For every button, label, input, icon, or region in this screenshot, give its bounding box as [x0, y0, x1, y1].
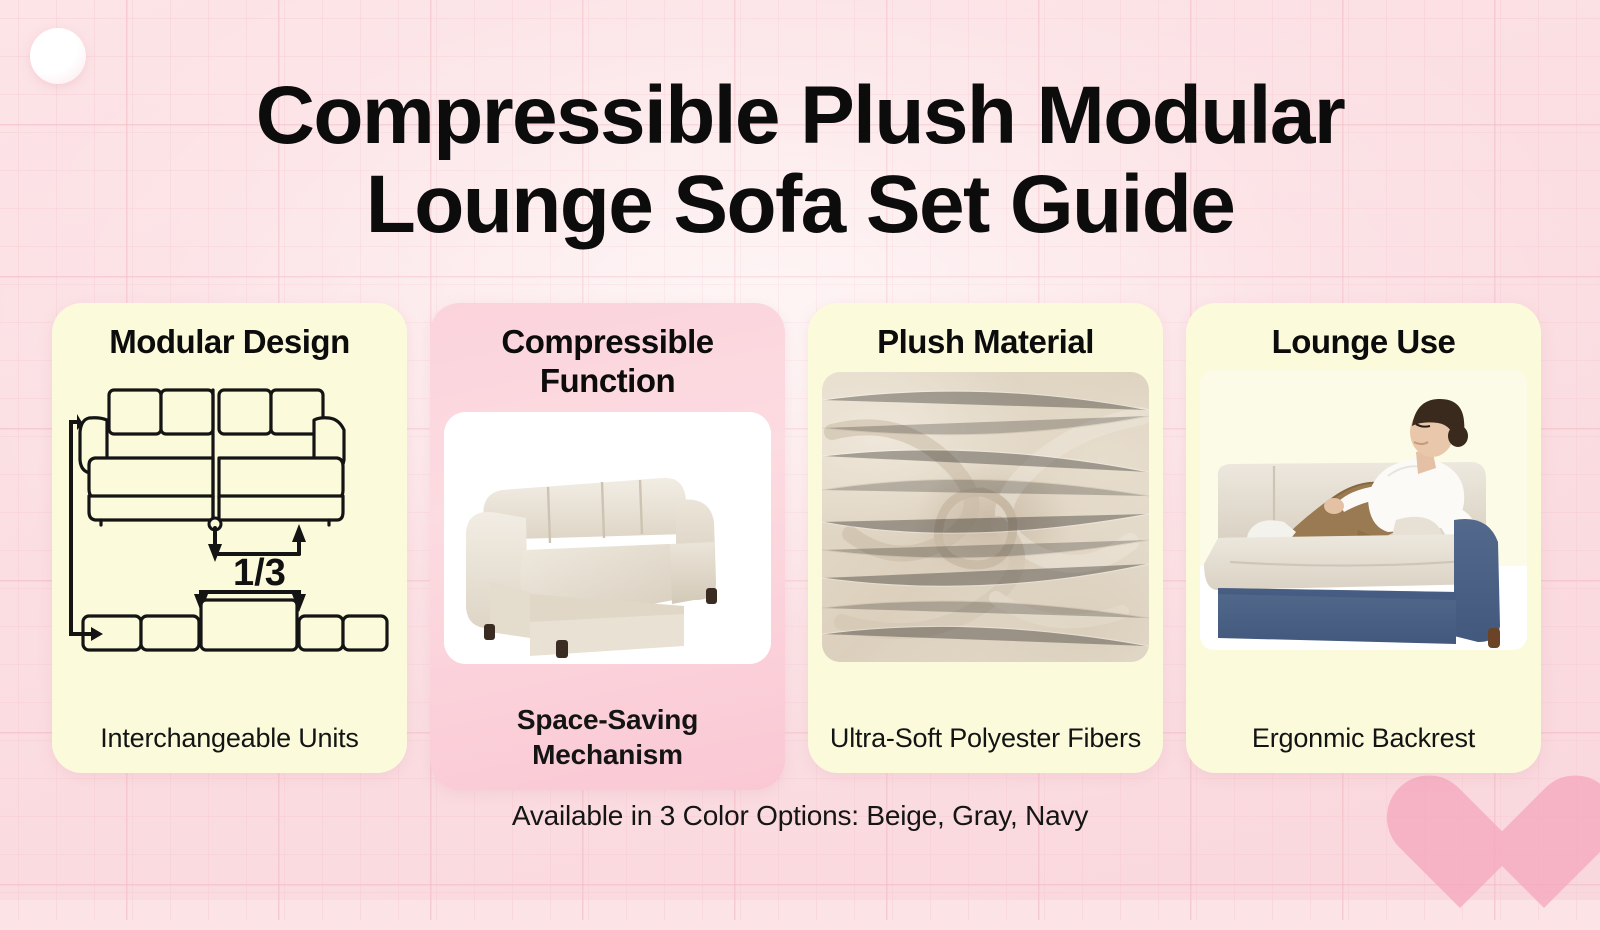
card-title: Lounge Use: [1272, 323, 1456, 362]
card-title: Compressible Function: [440, 323, 775, 400]
fabric-texture: [822, 372, 1149, 662]
card-title: Plush Material: [877, 323, 1094, 362]
card-caption: Ergonmic Backrest: [1186, 722, 1541, 755]
feature-card-lounge-use[interactable]: Lounge Use: [1186, 303, 1541, 773]
feature-card-plush-material[interactable]: Plush Material: [808, 303, 1163, 773]
svg-text:1/3: 1/3: [233, 552, 286, 594]
feature-card-compressible-function[interactable]: Compressible Function: [430, 303, 785, 790]
footer-note: Available in 3 Color Options: Beige, Gra…: [0, 800, 1600, 832]
card-title: Modular Design: [109, 323, 350, 362]
page-title-line-2: Lounge Sofa Set Guide: [0, 161, 1600, 250]
modular-diagram: 1/3: [67, 372, 392, 657]
card-caption: Interchangeable Units: [52, 722, 407, 755]
page-title: Compressible Plush Modular Lounge Sofa S…: [0, 72, 1600, 249]
feature-card-row: Modular Design: [52, 303, 1548, 790]
page-title-line-1: Compressible Plush Modular: [0, 72, 1600, 161]
card-caption: Ultra-Soft Polyester Fibers: [808, 722, 1163, 755]
lounge-photo: [1200, 370, 1527, 650]
feature-card-modular-design[interactable]: Modular Design: [52, 303, 407, 773]
card-caption: Space-Saving Mechanism: [430, 703, 785, 772]
sofa-photo: [444, 412, 771, 664]
